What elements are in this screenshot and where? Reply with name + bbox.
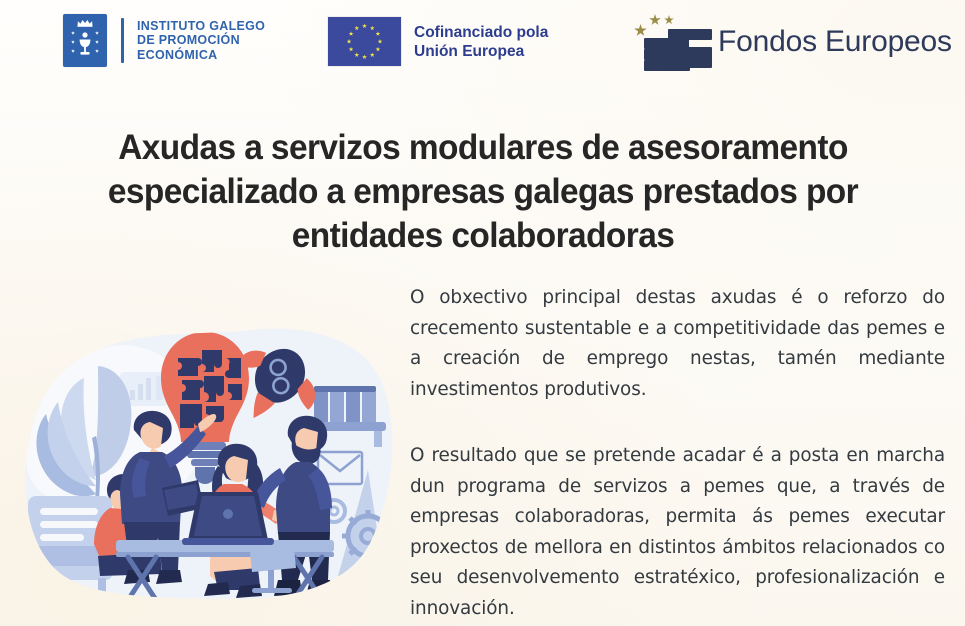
fondos-bar [644, 49, 678, 60]
chalice-icon [78, 32, 92, 56]
logo-divider [121, 18, 124, 63]
eu-flag-star-icon [354, 52, 359, 57]
logo-bar: INSTITUTO GALEGO DE PROMOCIÓN ECONÓMICA … [0, 0, 965, 88]
eu-flag-star-icon [362, 24, 367, 29]
shield-star-icon [95, 49, 99, 53]
fondos-europeos-mark-icon [620, 8, 712, 76]
shield-star-icon [71, 31, 75, 35]
fondos-star-icon [634, 24, 647, 37]
shield-star-icon [95, 31, 99, 35]
instituto-galego-de-promocion-economica-logo: INSTITUTO GALEGO DE PROMOCIÓN ECONÓMICA [63, 14, 265, 67]
crown-icon [77, 19, 94, 27]
eu-flag-star-icon [375, 47, 380, 52]
shield-star-icon [71, 40, 75, 44]
fondos-star-icon [649, 14, 661, 26]
fondos-europeos-logo: Fondos Europeos [620, 8, 952, 76]
illustration-svg [12, 318, 402, 618]
body-text-column: O obxectivo principal destas axudas é o … [410, 283, 945, 624]
fondos-star-icon [664, 15, 674, 25]
eu-flag-star-icon [378, 39, 383, 44]
eu-flag-star-icon [375, 31, 380, 36]
eu-flag-star-icon [347, 39, 352, 44]
european-union-flag-icon [328, 17, 401, 66]
eu-flag-star-icon [349, 47, 354, 52]
eu-flag-star-icon [349, 31, 354, 36]
cofinanciado-pola-union-europea-logo: Cofinanciado pola Unión Europea [328, 17, 548, 66]
xunta-de-galicia-shield-icon [63, 14, 107, 67]
eu-flag-star-icon [362, 55, 367, 60]
fondos-bar [644, 60, 690, 71]
eu-logo-text: Cofinanciado pola Unión Europea [414, 23, 548, 61]
eu-flag-star-icon [370, 26, 375, 31]
shield-star-icon [95, 40, 99, 44]
page-title: Axudas a servizos modulares de asesorame… [48, 126, 917, 258]
shield-star-icon [71, 49, 75, 53]
paragraph-result: O resultado que se pretende acadar é a p… [410, 441, 945, 624]
eu-flag-star-icon [354, 26, 359, 31]
team-brainstorming-illustration [12, 318, 402, 618]
paragraph-objective: O obxectivo principal destas axudas é o … [410, 283, 945, 405]
eu-flag-star-icon [370, 52, 375, 57]
igape-logo-text: INSTITUTO GALEGO DE PROMOCIÓN ECONÓMICA [137, 19, 265, 63]
fondos-europeos-text: Fondos Europeos [718, 25, 952, 59]
